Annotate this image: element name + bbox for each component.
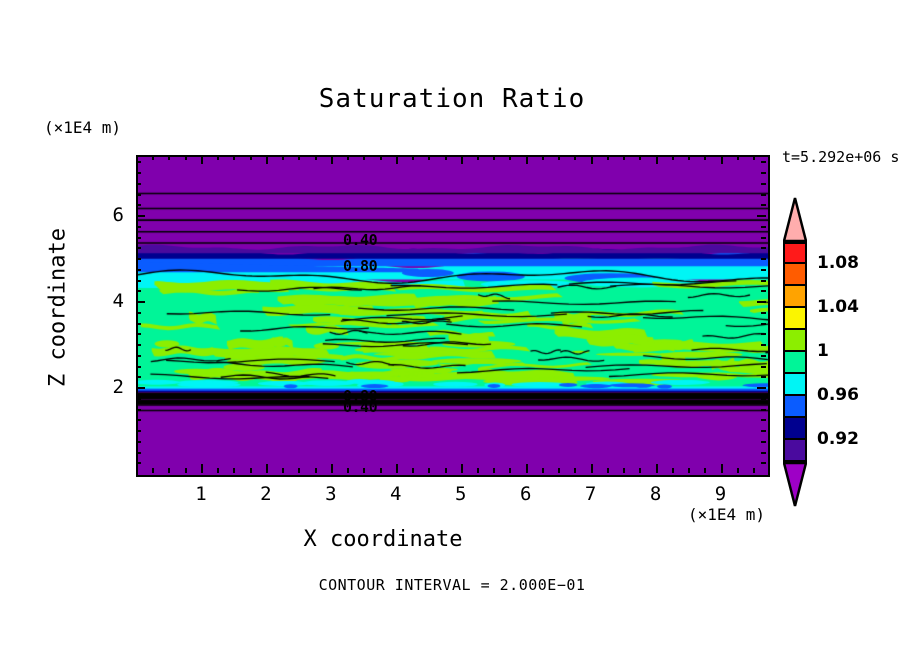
x-axis-tick-label: 6 bbox=[506, 483, 546, 505]
colorbar-top-arrow-cap bbox=[783, 196, 807, 242]
colorbar-band bbox=[783, 396, 807, 418]
colorbar-tick-label: 0.92 bbox=[817, 429, 859, 449]
colorbar-band bbox=[783, 264, 807, 286]
x-axis-tick-label: 7 bbox=[571, 483, 611, 505]
y-axis-units-label: (×1E4 m) bbox=[44, 118, 121, 137]
colorbar-tick-label: 1.04 bbox=[817, 297, 859, 317]
colorbar-tick-label: 1.08 bbox=[817, 253, 859, 273]
x-axis-tick-label: 3 bbox=[311, 483, 351, 505]
colorbar-band bbox=[783, 352, 807, 374]
x-axis-tick-label: 4 bbox=[376, 483, 416, 505]
colorbar-band bbox=[783, 440, 807, 462]
x-axis-units-label: (×1E4 m) bbox=[688, 505, 765, 524]
x-axis-tick-label: 5 bbox=[441, 483, 481, 505]
colorbar-band bbox=[783, 308, 807, 330]
colorbar-band bbox=[783, 374, 807, 396]
y-axis-tick-label: 2 bbox=[84, 376, 124, 398]
colorbar-bottom-arrow-cap bbox=[783, 462, 807, 508]
y-axis-tick-label: 6 bbox=[84, 204, 124, 226]
colorbar-band bbox=[783, 418, 807, 440]
y-axis-title: Z coordinate bbox=[46, 198, 71, 418]
colorbar-tick-label: 1 bbox=[817, 341, 829, 361]
contour-plot-area[interactable] bbox=[136, 155, 770, 477]
y-axis-tick-label: 4 bbox=[84, 290, 124, 312]
time-annotation: t=5.292e+06 s bbox=[782, 148, 899, 166]
contour-interval-caption: CONTOUR INTERVAL = 2.000E−01 bbox=[0, 576, 904, 594]
x-axis-tick-label: 9 bbox=[701, 483, 741, 505]
page-title: Saturation Ratio bbox=[0, 84, 904, 114]
colorbar[interactable]: 1.081.0410.960.92 bbox=[783, 196, 807, 508]
colorbar-band bbox=[783, 286, 807, 308]
colorbar-band bbox=[783, 330, 807, 352]
x-axis-tick-label: 2 bbox=[246, 483, 286, 505]
colorbar-tick-label: 0.96 bbox=[817, 385, 859, 405]
x-axis-tick-label: 8 bbox=[636, 483, 676, 505]
contour-field-canvas bbox=[138, 157, 768, 475]
x-axis-title: X coordinate bbox=[0, 527, 766, 552]
colorbar-band bbox=[783, 242, 807, 264]
x-axis-tick-label: 1 bbox=[181, 483, 221, 505]
